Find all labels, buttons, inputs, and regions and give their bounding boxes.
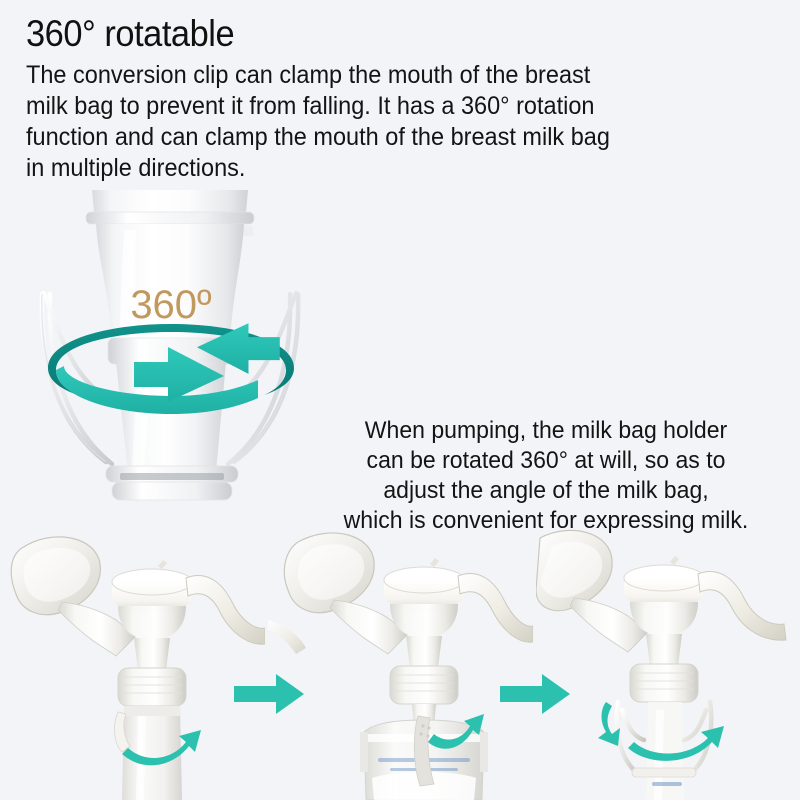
- clip-upper-neck: [92, 190, 248, 212]
- step-connector-arrow-2: [498, 672, 572, 716]
- pump-handle: [698, 571, 786, 640]
- pump-handle: [186, 575, 265, 644]
- arrow-right-icon: [234, 674, 304, 714]
- step-panel-1: [0, 520, 265, 800]
- step-connector-arrow-1: [232, 672, 306, 716]
- page-title: 360° rotatable: [26, 12, 733, 56]
- usage-steps-strip: [0, 520, 800, 800]
- intro-paragraph: The conversion clip can clamp the mouth …: [26, 60, 740, 184]
- header-text-block: 360° rotatable The conversion clip can c…: [26, 12, 786, 184]
- rotation-caption: When pumping, the milk bag holder can be…: [310, 416, 782, 536]
- conversion-clip-illustration: 360º: [20, 190, 320, 520]
- product-feature-page: 360° rotatable The conversion clip can c…: [0, 0, 800, 800]
- step-panel-2: [268, 520, 533, 800]
- arrow-right-icon: [500, 674, 570, 714]
- rotation-badge-label: 360º: [130, 283, 212, 327]
- pump-handle: [458, 573, 533, 642]
- step-panel-3: [536, 520, 800, 800]
